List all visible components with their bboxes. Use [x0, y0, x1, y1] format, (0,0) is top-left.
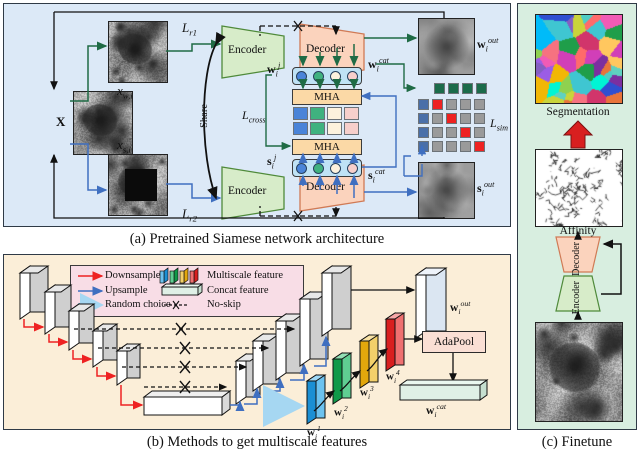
affinity-image: [535, 149, 623, 227]
multiscale-label-3: wi3: [360, 385, 374, 400]
panel-b-out-label: wiout: [450, 300, 470, 316]
encoder-c-label: Encoder: [572, 281, 582, 314]
panel-multiscale-features: Downsample Upsample Random choice Multis…: [3, 254, 511, 430]
panel-finetune: Segmentation Affinity Decoder Encoder: [517, 3, 637, 430]
multiscale-label-2: wi2: [334, 405, 348, 420]
decoder-c-label: Decoder: [572, 242, 582, 276]
panel-a-caption: (a) Pretrained Siamese network architect…: [3, 228, 511, 250]
panel-c-caption: (c) Finetune: [517, 431, 637, 453]
panel-b-caption: (b) Methods to get multiscale features: [3, 431, 511, 453]
adapool-block: AdaPool: [422, 331, 486, 353]
panel-pretrained-siamese: X xw,i xs,i Lr1 Lr2 Encoder Encoder Deco…: [3, 3, 511, 227]
panel-a-arrows: [4, 4, 512, 228]
panel-b-cat-label: wicat: [426, 403, 446, 419]
multiscale-label-4: wi4: [386, 369, 400, 384]
input-em-image-c: [535, 322, 623, 422]
figure-root: X xw,i xs,i Lr1 Lr2 Encoder Encoder Deco…: [0, 0, 640, 455]
affinity-label: Affinity: [534, 226, 622, 238]
